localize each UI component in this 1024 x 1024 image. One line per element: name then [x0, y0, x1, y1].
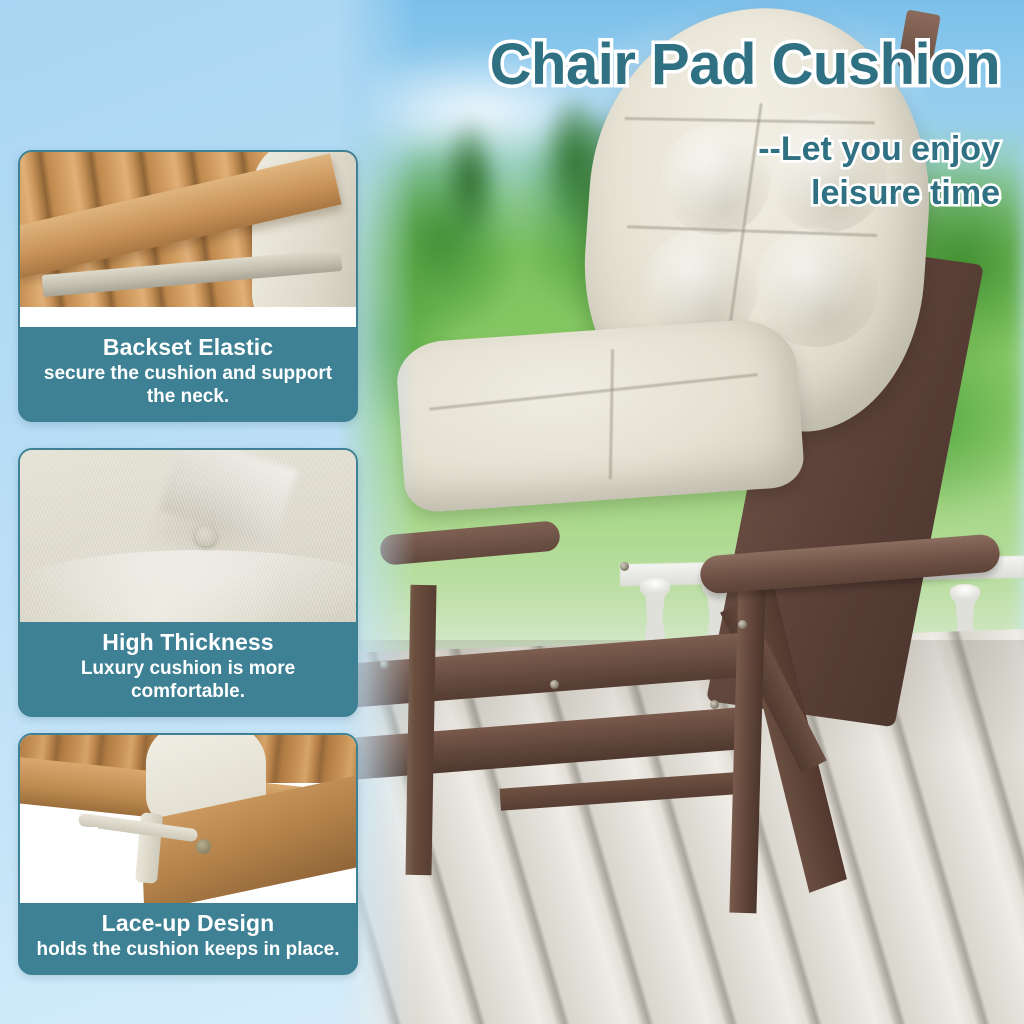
subtitle-line-2: leisure time: [360, 172, 1000, 216]
feature-card-backset-elastic[interactable]: Backset Elastic secure the cushion and s…: [18, 150, 358, 422]
feature-description: holds the cushion keeps in place.: [30, 939, 346, 962]
screw-head: [380, 660, 389, 669]
page-title: Chair Pad Cushion: [340, 34, 1000, 95]
screw-head: [620, 562, 629, 571]
feature-title: Backset Elastic: [30, 334, 346, 361]
feature-title: High Thickness: [30, 629, 346, 656]
subtitle-line-1: --Let you enjoy: [360, 128, 1000, 172]
cushion-seat: [395, 316, 806, 513]
feature-caption: Backset Elastic secure the cushion and s…: [20, 327, 356, 420]
feature-caption: High Thickness Luxury cushion is more co…: [20, 622, 356, 715]
infographic-canvas: Chair Pad Cushion --Let you enjoy leisur…: [0, 0, 1024, 1024]
feature-image-backset-elastic: [20, 152, 356, 327]
feature-caption: Lace-up Design holds the cushion keeps i…: [20, 903, 356, 973]
feature-description: Luxury cushion is more comfortable.: [30, 658, 346, 704]
feature-image-lace-up-design: [20, 735, 356, 903]
chair-front-leg-left: [405, 585, 436, 875]
screw-head: [738, 620, 747, 629]
feature-image-high-thickness: [20, 450, 356, 622]
screw-head: [710, 700, 719, 709]
feature-card-lace-up-design[interactable]: Lace-up Design holds the cushion keeps i…: [18, 733, 358, 975]
page-subtitle: --Let you enjoy leisure time: [360, 128, 1000, 215]
feature-title: Lace-up Design: [30, 910, 346, 937]
feature-description: secure the cushion and support the neck.: [30, 363, 346, 409]
feature-card-high-thickness[interactable]: High Thickness Luxury cushion is more co…: [18, 448, 358, 717]
screw-head: [550, 680, 559, 689]
